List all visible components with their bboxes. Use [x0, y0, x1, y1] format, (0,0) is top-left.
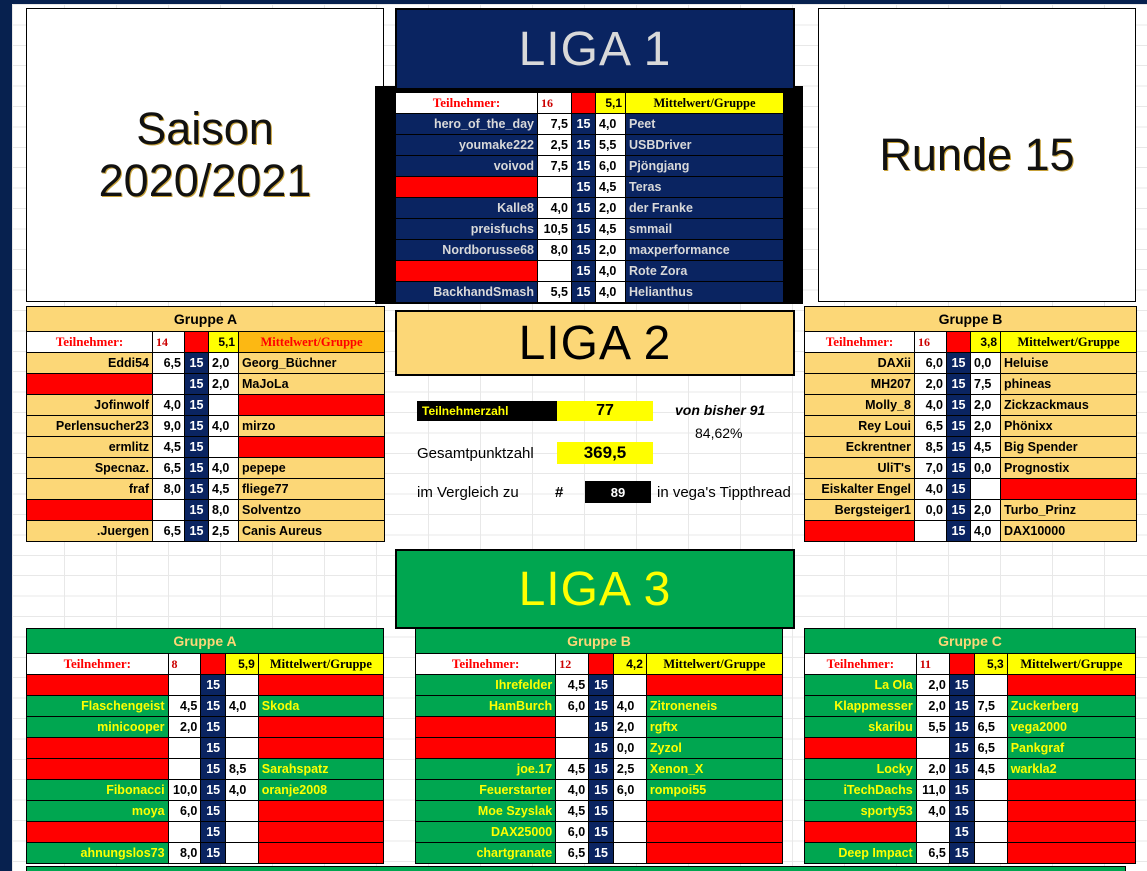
- player-name: [27, 374, 153, 395]
- table-row[interactable]: ermlitz4,515: [27, 437, 385, 458]
- player-score: 4,0: [556, 780, 589, 801]
- table-row[interactable]: .Juergen6,5152,5Canis Aureus: [27, 521, 385, 542]
- player-score: [168, 675, 201, 696]
- spreadsheet-sheet: Saison 2020/2021 Runde 15 LIGA 1 Teilneh…: [12, 4, 1147, 871]
- group-title-row: Gruppe B: [805, 307, 1137, 332]
- player-score: [538, 261, 572, 282]
- partner-name: Zuckerberg: [1007, 696, 1135, 717]
- partner-score: [613, 675, 646, 696]
- partner-score: 4,0: [596, 114, 626, 135]
- partner-score: 4,0: [613, 696, 646, 717]
- round-number: 15: [589, 759, 614, 780]
- table-row[interactable]: 15: [27, 822, 384, 843]
- partner-name: [239, 395, 385, 416]
- partner-score: 2,0: [596, 240, 626, 261]
- partner-score: 2,0: [971, 500, 1001, 521]
- player-score: [916, 738, 949, 759]
- table-row[interactable]: 152,0MaJoLa: [27, 374, 385, 395]
- participants-count: 16: [538, 93, 572, 114]
- round-number: 15: [572, 177, 596, 198]
- table-row[interactable]: 158,5Sarahspatz: [27, 759, 384, 780]
- player-score: [556, 717, 589, 738]
- player-name: DAX25000: [416, 822, 556, 843]
- partner-score: [974, 780, 1007, 801]
- partner-score: 0,0: [971, 353, 1001, 374]
- round-number: 15: [201, 801, 226, 822]
- player-score: 2,0: [916, 675, 949, 696]
- partner-name: Skoda: [258, 696, 383, 717]
- table-row[interactable]: Bergsteiger10,0152,0Turbo_Prinz: [805, 500, 1137, 521]
- table-row[interactable]: La Ola2,015: [805, 675, 1136, 696]
- table-row[interactable]: 15: [27, 738, 384, 759]
- player-score: 6,0: [168, 801, 201, 822]
- round-number: 15: [201, 843, 226, 864]
- season-title: Saison 2020/2021: [99, 103, 312, 207]
- mittelwert-header: Mittelwert/Gruppe: [1007, 654, 1135, 675]
- hash-symbol: #: [555, 481, 575, 503]
- header-red-marker: [949, 654, 974, 675]
- player-name: [416, 738, 556, 759]
- player-name: Nordborusse68: [396, 240, 538, 261]
- partner-name: phineas: [1001, 374, 1137, 395]
- player-name: [27, 738, 169, 759]
- group-title: Gruppe B: [416, 629, 783, 654]
- partner-score: [225, 738, 258, 759]
- participants-header-row: Teilnehmer:145,1Mittelwert/Gruppe: [27, 332, 385, 353]
- participants-count: 8: [168, 654, 201, 675]
- group-title: Gruppe B: [805, 307, 1137, 332]
- group-average: 3,8: [971, 332, 1001, 353]
- group-title-row: Gruppe A: [27, 629, 384, 654]
- round-number: 15: [589, 717, 614, 738]
- table-row[interactable]: 154,5Teras: [396, 177, 784, 198]
- round-number: 15: [201, 717, 226, 738]
- round-number: 15: [185, 437, 209, 458]
- table-row[interactable]: ahnungslos738,015: [27, 843, 384, 864]
- partner-score: [613, 822, 646, 843]
- participants-header-row: Teilnehmer:124,2Mittelwert/Gruppe: [416, 654, 783, 675]
- partner-name: fliege77: [239, 479, 385, 500]
- table-row[interactable]: Eddi546,5152,0Georg_Büchner: [27, 353, 385, 374]
- gesamtpunktzahl-value: 369,5: [557, 442, 653, 464]
- partner-score: 4,5: [971, 437, 1001, 458]
- table-row[interactable]: iTechDachs11,015: [805, 780, 1136, 801]
- round-number: 15: [949, 843, 974, 864]
- liga3-gruppea-tbody: Gruppe ATeilnehmer:85,9Mittelwert/Gruppe…: [27, 629, 384, 864]
- participants-count: 16: [915, 332, 947, 353]
- partner-score: [225, 801, 258, 822]
- group-title-row: Gruppe A: [27, 307, 385, 332]
- partner-score: [974, 801, 1007, 822]
- player-score: 5,5: [916, 717, 949, 738]
- player-name: [27, 759, 169, 780]
- table-row[interactable]: Deep Impact6,515: [805, 843, 1136, 864]
- table-row[interactable]: 154,0Rote Zora: [396, 261, 784, 282]
- partner-name: [1007, 675, 1135, 696]
- partner-score: [974, 843, 1007, 864]
- player-name: youmake222: [396, 135, 538, 156]
- liga3-gruppeb-tbody: Gruppe BTeilnehmer:124,2Mittelwert/Grupp…: [416, 629, 783, 864]
- table-row[interactable]: Ihrefelder4,515: [416, 675, 783, 696]
- table-row[interactable]: UliT's7,0150,0Prognostix: [805, 458, 1137, 479]
- partner-score: 4,0: [225, 780, 258, 801]
- player-name: BackhandSmash: [396, 282, 538, 303]
- player-name: MH207: [805, 374, 915, 395]
- partner-name: [646, 801, 782, 822]
- player-name: HamBurch: [416, 696, 556, 717]
- liga1-banner: LIGA 1: [395, 8, 795, 90]
- partner-name: Georg_Büchner: [239, 353, 385, 374]
- table-row[interactable]: HamBurch6,0154,0Zitroneneis: [416, 696, 783, 717]
- player-score: 4,0: [915, 479, 947, 500]
- player-name: ahnungslos73: [27, 843, 169, 864]
- player-name: Kalle8: [396, 198, 538, 219]
- table-row[interactable]: Fibonacci10,0154,0oranje2008: [27, 780, 384, 801]
- partner-score: [225, 843, 258, 864]
- partner-name: [258, 822, 383, 843]
- player-name: [805, 521, 915, 542]
- player-name: Perlensucher23: [27, 416, 153, 437]
- partner-score: [613, 843, 646, 864]
- table-row[interactable]: sporty534,015: [805, 801, 1136, 822]
- group-title: Gruppe A: [27, 307, 385, 332]
- round-number: 15: [947, 458, 971, 479]
- player-score: 7,5: [538, 114, 572, 135]
- player-name: Moe Szyslak: [416, 801, 556, 822]
- player-name: Jofinwolf: [27, 395, 153, 416]
- partner-name: Prognostix: [1001, 458, 1137, 479]
- partner-score: 4,0: [971, 521, 1001, 542]
- partner-score: 4,0: [209, 416, 239, 437]
- player-score: [153, 374, 185, 395]
- table-row[interactable]: joe.174,5152,5Xenon_X: [416, 759, 783, 780]
- round-number: 15: [572, 282, 596, 303]
- partner-name: MaJoLa: [239, 374, 385, 395]
- player-score: 6,5: [556, 843, 589, 864]
- header-red-marker: [185, 332, 209, 353]
- player-name: minicooper: [27, 717, 169, 738]
- player-name: Rey Loui: [805, 416, 915, 437]
- round-number: 15: [947, 521, 971, 542]
- round-number: 15: [947, 395, 971, 416]
- mittelwert-header: Mittelwert/Gruppe: [626, 93, 784, 114]
- table-row[interactable]: Eiskalter Engel4,015: [805, 479, 1137, 500]
- player-name: [27, 500, 153, 521]
- table-row[interactable]: BackhandSmash5,5154,0Helianthus: [396, 282, 784, 303]
- player-score: 4,5: [168, 696, 201, 717]
- partner-name: Heluise: [1001, 353, 1137, 374]
- round-number: 15: [185, 395, 209, 416]
- round-number: 15: [572, 261, 596, 282]
- partner-score: 4,5: [209, 479, 239, 500]
- player-name: [805, 822, 917, 843]
- round-number: 15: [949, 780, 974, 801]
- table-row[interactable]: Nordborusse688,0152,0maxperformance: [396, 240, 784, 261]
- player-name: Eddi54: [27, 353, 153, 374]
- table-row[interactable]: 158,0Solventzo: [27, 500, 385, 521]
- player-score: 4,0: [916, 801, 949, 822]
- table-row[interactable]: 15: [805, 822, 1136, 843]
- player-score: 2,0: [916, 759, 949, 780]
- player-score: 6,5: [916, 843, 949, 864]
- partner-score: [225, 675, 258, 696]
- liga1-tbody: Teilnehmer:165,1Mittelwert/Gruppehero_of…: [396, 93, 784, 303]
- mittelwert-header: Mittelwert/Gruppe: [1001, 332, 1137, 353]
- round-number: 15: [947, 353, 971, 374]
- partner-name: Turbo_Prinz: [1001, 500, 1137, 521]
- round-number: 15: [949, 801, 974, 822]
- partner-name: warkla2: [1007, 759, 1135, 780]
- player-name: Fibonacci: [27, 780, 169, 801]
- round-number: 15: [201, 675, 226, 696]
- participants-header-row: Teilnehmer:115,3Mittelwert/Gruppe: [805, 654, 1136, 675]
- partner-name: [258, 843, 383, 864]
- player-name: chartgranate: [416, 843, 556, 864]
- player-name: fraf: [27, 479, 153, 500]
- page-frame: Saison 2020/2021 Runde 15 LIGA 1 Teilneh…: [0, 0, 1147, 871]
- partner-name: vega2000: [1007, 717, 1135, 738]
- partner-score: 2,0: [209, 374, 239, 395]
- liga1-table-wrap: Teilnehmer:165,1Mittelwert/Gruppehero_of…: [395, 92, 783, 303]
- partner-score: 8,0: [209, 500, 239, 521]
- table-row[interactable]: Specnaz.6,5154,0pepepe: [27, 458, 385, 479]
- player-score: 2,5: [538, 135, 572, 156]
- partner-name: [1007, 780, 1135, 801]
- player-name: hero_of_the_day: [396, 114, 538, 135]
- vergleich-value: 89: [585, 481, 651, 503]
- player-score: 4,0: [538, 198, 572, 219]
- partner-score: [209, 395, 239, 416]
- round-number: 15: [201, 780, 226, 801]
- table-row[interactable]: Klappmesser2,0157,5Zuckerberg: [805, 696, 1136, 717]
- group-average: 5,1: [596, 93, 626, 114]
- header-red-marker: [947, 332, 971, 353]
- liga3-gruppeb-table: Gruppe BTeilnehmer:124,2Mittelwert/Grupp…: [415, 628, 783, 864]
- player-score: 8,0: [153, 479, 185, 500]
- table-row[interactable]: DAXii6,0150,0Heluise: [805, 353, 1137, 374]
- partner-score: [225, 717, 258, 738]
- table-row[interactable]: minicooper2,015: [27, 717, 384, 738]
- player-score: 2,0: [916, 696, 949, 717]
- group-average: 5,1: [209, 332, 239, 353]
- round-number: 15: [572, 198, 596, 219]
- table-row[interactable]: Molly_84,0152,0Zickzackmaus: [805, 395, 1137, 416]
- player-score: 6,5: [915, 416, 947, 437]
- partner-score: 2,0: [613, 717, 646, 738]
- player-name: [27, 675, 169, 696]
- table-row[interactable]: 150,0Zyzol: [416, 738, 783, 759]
- player-score: 8,5: [915, 437, 947, 458]
- table-row[interactable]: Moe Szyslak4,515: [416, 801, 783, 822]
- player-name: skaribu: [805, 717, 917, 738]
- player-name: .Juergen: [27, 521, 153, 542]
- partner-name: [258, 675, 383, 696]
- round-number: 15: [201, 696, 226, 717]
- group-title-row: Gruppe C: [805, 629, 1136, 654]
- table-row[interactable]: 15: [27, 675, 384, 696]
- partner-score: 4,0: [225, 696, 258, 717]
- participants-count: 11: [916, 654, 949, 675]
- partner-score: 4,5: [596, 219, 626, 240]
- table-row[interactable]: 152,0rgftx: [416, 717, 783, 738]
- round-number: 15: [185, 479, 209, 500]
- player-name: moya: [27, 801, 169, 822]
- round-number: 15: [572, 219, 596, 240]
- liga2-gruppeb-tbody: Gruppe BTeilnehmer:163,8Mittelwert/Grupp…: [805, 307, 1137, 542]
- table-row[interactable]: youmake2222,5155,5USBDriver: [396, 135, 784, 156]
- table-row[interactable]: moya6,015: [27, 801, 384, 822]
- player-name: [396, 177, 538, 198]
- table-row[interactable]: 156,5Pankgraf: [805, 738, 1136, 759]
- participants-header-row: Teilnehmer:163,8Mittelwert/Gruppe: [805, 332, 1137, 353]
- liga3-gruppea-wrap: Gruppe ATeilnehmer:85,9Mittelwert/Gruppe…: [26, 628, 384, 864]
- partner-name: rompoi55: [646, 780, 782, 801]
- round-number: 15: [185, 458, 209, 479]
- player-score: 9,0: [153, 416, 185, 437]
- group-average: 5,3: [974, 654, 1007, 675]
- table-row[interactable]: preisfuchs10,5154,5smmail: [396, 219, 784, 240]
- partner-score: [613, 801, 646, 822]
- round-number: 15: [185, 416, 209, 437]
- player-score: 4,5: [556, 759, 589, 780]
- round-number: 15: [589, 822, 614, 843]
- partner-score: 2,0: [971, 416, 1001, 437]
- table-row[interactable]: Perlensucher239,0154,0mirzo: [27, 416, 385, 437]
- partner-name: [646, 675, 782, 696]
- participants-header-row: Teilnehmer:165,1Mittelwert/Gruppe: [396, 93, 784, 114]
- player-name: UliT's: [805, 458, 915, 479]
- player-score: 4,5: [556, 675, 589, 696]
- partner-name: Teras: [626, 177, 784, 198]
- liga1-table: Teilnehmer:165,1Mittelwert/Gruppehero_of…: [395, 92, 784, 303]
- player-score: 0,0: [915, 500, 947, 521]
- table-row[interactable]: Flaschengeist4,5154,0Skoda: [27, 696, 384, 717]
- liga3-gruppec-tbody: Gruppe CTeilnehmer:115,3Mittelwert/Grupp…: [805, 629, 1136, 864]
- partner-name: smmail: [626, 219, 784, 240]
- table-row[interactable]: Eckrentner8,5154,5Big Spender: [805, 437, 1137, 458]
- table-row[interactable]: Feuerstarter4,0156,0rompoi55: [416, 780, 783, 801]
- player-name: ermlitz: [27, 437, 153, 458]
- partner-score: 6,0: [613, 780, 646, 801]
- participants-label: Teilnehmer:: [805, 654, 917, 675]
- liga2-gruppeb-table: Gruppe BTeilnehmer:163,8Mittelwert/Grupp…: [804, 306, 1137, 542]
- table-row[interactable]: chartgranate6,515: [416, 843, 783, 864]
- player-score: 4,0: [915, 395, 947, 416]
- player-name: Deep Impact: [805, 843, 917, 864]
- partner-score: 4,0: [596, 261, 626, 282]
- table-row[interactable]: MH2072,0157,5phineas: [805, 374, 1137, 395]
- round-number: 15: [949, 759, 974, 780]
- partner-score: 6,0: [596, 156, 626, 177]
- participants-label: Teilnehmer:: [27, 654, 169, 675]
- player-score: [168, 822, 201, 843]
- round-number: 15: [201, 822, 226, 843]
- partner-score: 7,5: [971, 374, 1001, 395]
- round-number: 15: [201, 738, 226, 759]
- player-score: 10,5: [538, 219, 572, 240]
- player-name: Feuerstarter: [416, 780, 556, 801]
- participants-label: Teilnehmer:: [396, 93, 538, 114]
- player-score: 2,0: [168, 717, 201, 738]
- participants-label: Teilnehmer:: [805, 332, 915, 353]
- liga2-gruppeb-wrap: Gruppe BTeilnehmer:163,8Mittelwert/Grupp…: [804, 306, 1136, 542]
- liga3-gruppea-table: Gruppe ATeilnehmer:85,9Mittelwert/Gruppe…: [26, 628, 384, 864]
- player-score: 8,0: [168, 843, 201, 864]
- partner-name: Xenon_X: [646, 759, 782, 780]
- player-name: preisfuchs: [396, 219, 538, 240]
- player-score: 6,0: [915, 353, 947, 374]
- partner-score: 6,5: [974, 717, 1007, 738]
- partner-score: 8,5: [225, 759, 258, 780]
- partner-score: [209, 437, 239, 458]
- partner-name: Helianthus: [626, 282, 784, 303]
- player-score: 6,5: [153, 458, 185, 479]
- table-row[interactable]: skaribu5,5156,5vega2000: [805, 717, 1136, 738]
- teilnehmerzahl-value: 77: [557, 401, 653, 421]
- round-number: 15: [589, 780, 614, 801]
- player-score: 2,0: [915, 374, 947, 395]
- partner-name: Rote Zora: [626, 261, 784, 282]
- table-row[interactable]: fraf8,0154,5fliege77: [27, 479, 385, 500]
- player-name: Locky: [805, 759, 917, 780]
- header-red-marker: [201, 654, 226, 675]
- table-row[interactable]: Jofinwolf4,015: [27, 395, 385, 416]
- player-name: [416, 717, 556, 738]
- round-number: 15: [572, 114, 596, 135]
- player-score: 5,5: [538, 282, 572, 303]
- player-name: Flaschengeist: [27, 696, 169, 717]
- round-number: 15: [947, 374, 971, 395]
- round-number: 15: [949, 696, 974, 717]
- player-score: 10,0: [168, 780, 201, 801]
- partner-name: mirzo: [239, 416, 385, 437]
- round-title-box: Runde 15: [818, 8, 1136, 302]
- liga3-gruppeb-wrap: Gruppe BTeilnehmer:124,2Mittelwert/Grupp…: [415, 628, 783, 864]
- player-score: 6,5: [153, 353, 185, 374]
- participants-label: Teilnehmer:: [416, 654, 556, 675]
- player-score: 7,5: [538, 156, 572, 177]
- table-row[interactable]: hero_of_the_day7,5154,0Peet: [396, 114, 784, 135]
- table-row[interactable]: DAX250006,015: [416, 822, 783, 843]
- table-row[interactable]: 154,0DAX10000: [805, 521, 1137, 542]
- participants-label: Teilnehmer:: [27, 332, 153, 353]
- table-row[interactable]: voivod7,5156,0Pjöngjang: [396, 156, 784, 177]
- liga3-gruppec-table: Gruppe CTeilnehmer:115,3Mittelwert/Grupp…: [804, 628, 1136, 864]
- partner-name: [258, 801, 383, 822]
- partner-name: Zickzackmaus: [1001, 395, 1137, 416]
- partner-name: Phönixx: [1001, 416, 1137, 437]
- table-row[interactable]: Rey Loui6,5152,0Phönixx: [805, 416, 1137, 437]
- player-name: Klappmesser: [805, 696, 917, 717]
- vergleich-label: im Vergleich zu: [417, 481, 557, 503]
- partner-name: [1007, 801, 1135, 822]
- player-name: DAXii: [805, 353, 915, 374]
- partner-name: Solventzo: [239, 500, 385, 521]
- player-score: [538, 177, 572, 198]
- table-row[interactable]: Kalle84,0152,0der Franke: [396, 198, 784, 219]
- round-number: 15: [201, 759, 226, 780]
- player-name: voivod: [396, 156, 538, 177]
- partner-name: pepepe: [239, 458, 385, 479]
- liga2-gruppea-wrap: Gruppe ATeilnehmer:145,1Mittelwert/Grupp…: [26, 306, 384, 542]
- player-score: [153, 500, 185, 521]
- table-row[interactable]: Locky2,0154,5warkla2: [805, 759, 1136, 780]
- round-number: 15: [949, 717, 974, 738]
- player-score: [556, 738, 589, 759]
- partner-name: Zyzol: [646, 738, 782, 759]
- player-name: iTechDachs: [805, 780, 917, 801]
- player-name: [27, 822, 169, 843]
